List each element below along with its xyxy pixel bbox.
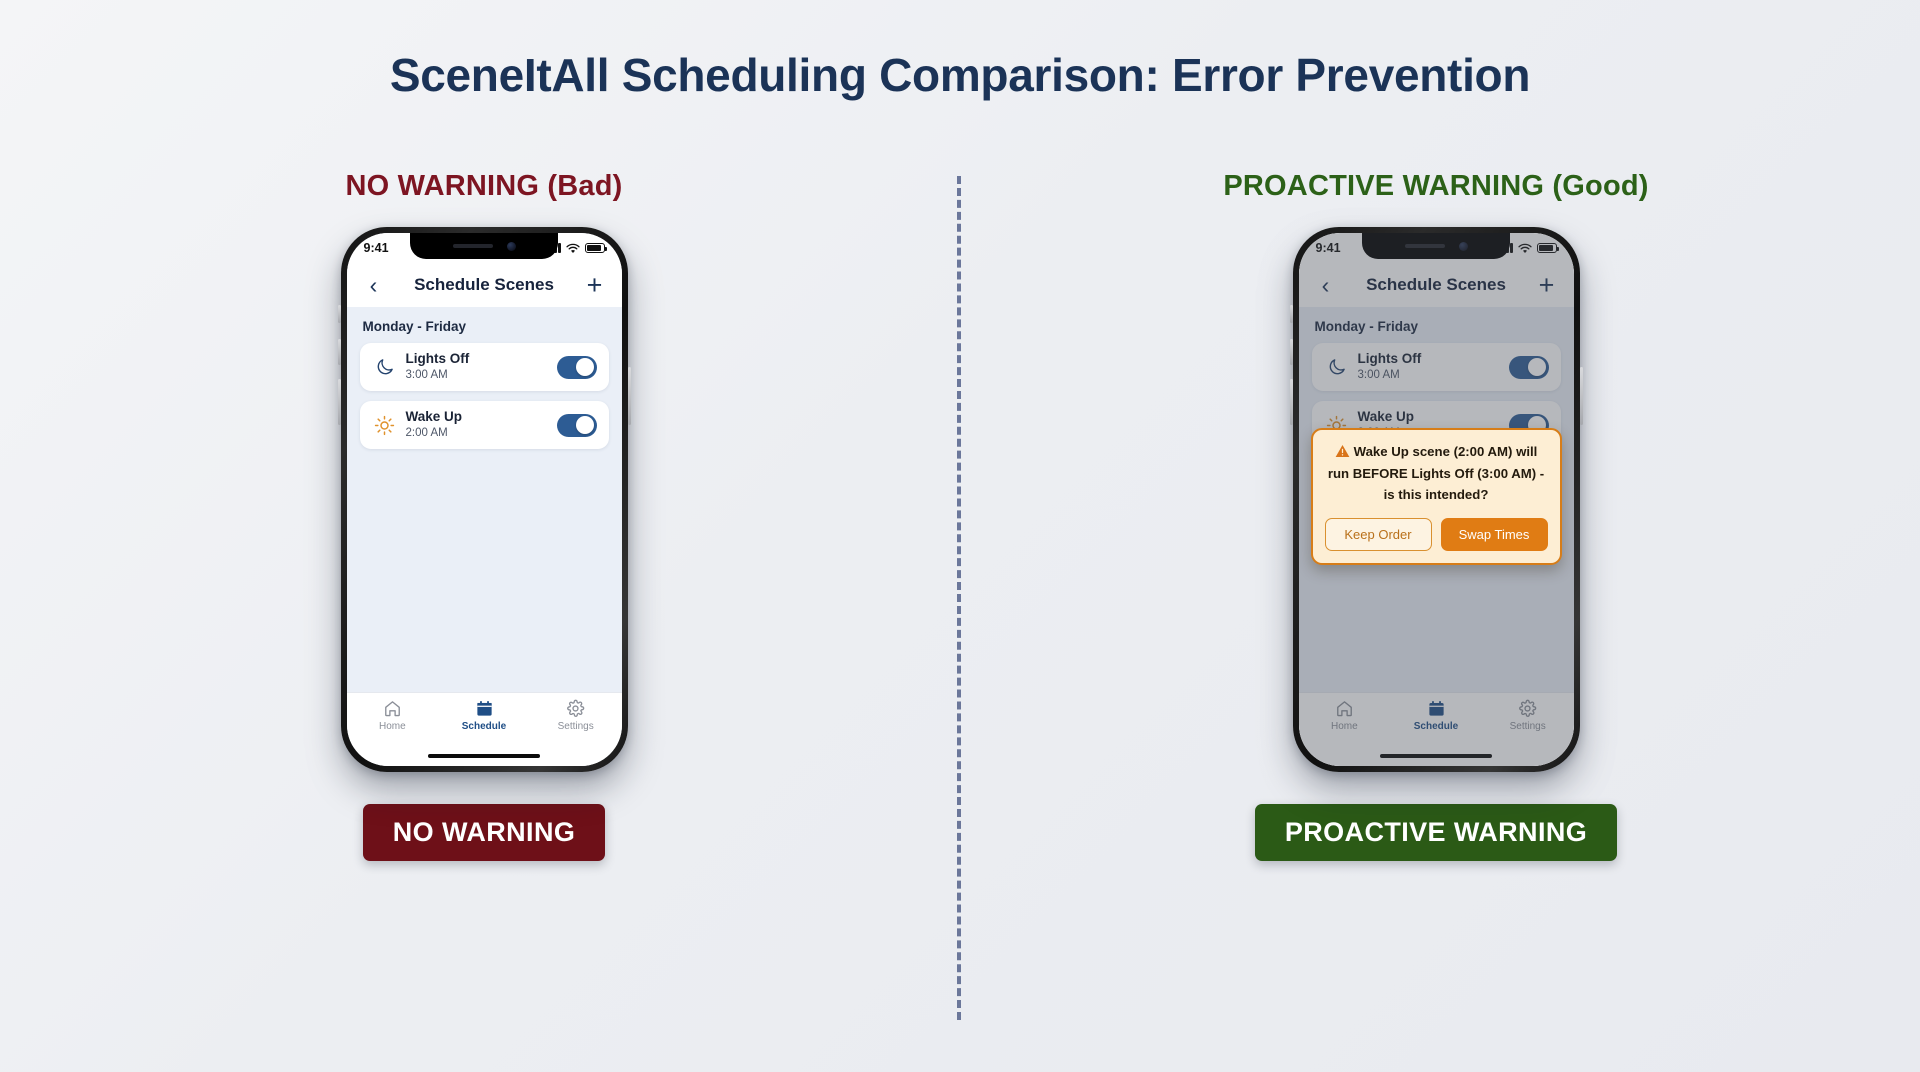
wifi-icon (566, 243, 580, 254)
panel-heading-good: PROACTIVE WARNING (Good) (1223, 170, 1648, 203)
tab-label: Settings (1510, 721, 1546, 732)
home-icon (383, 699, 402, 718)
nav-bar: ‹ Schedule Scenes + (1299, 263, 1574, 307)
home-indicator[interactable] (428, 754, 540, 759)
scene-row-lights-off[interactable]: Lights Off 3:00 AM (360, 343, 609, 391)
panel-heading-bad: NO WARNING (Bad) (345, 170, 622, 203)
gear-icon (1518, 699, 1537, 718)
tab-settings[interactable]: Settings (530, 699, 622, 732)
app-body-left: Monday - Friday Lights Off 3:00 AM (347, 307, 622, 692)
nav-bar: ‹ Schedule Scenes + (347, 263, 622, 307)
section-title: Monday - Friday (1315, 319, 1561, 334)
moon-icon (1322, 357, 1352, 377)
scene-row-lights-off[interactable]: Lights Off 3:00 AM (1312, 343, 1561, 391)
tab-label: Home (379, 721, 406, 732)
chevron-left-icon[interactable]: ‹ (1315, 274, 1337, 297)
tab-label: Settings (558, 721, 594, 732)
wifi-icon (1518, 243, 1532, 254)
battery-icon (585, 243, 605, 253)
gear-icon (566, 699, 585, 718)
tab-label: Schedule (462, 721, 506, 732)
phone-power-button (628, 367, 631, 425)
scene-toggle[interactable] (557, 356, 597, 379)
keep-order-button[interactable]: Keep Order (1325, 518, 1432, 551)
section-title: Monday - Friday (363, 319, 609, 334)
home-indicator[interactable] (1380, 754, 1492, 759)
tab-label: Schedule (1414, 721, 1458, 732)
phone-notch (1362, 233, 1510, 259)
phone-silent-switch (1290, 305, 1293, 323)
panel-divider (957, 176, 961, 1020)
plus-icon[interactable]: + (1536, 272, 1558, 299)
scene-row-wake-up[interactable]: Wake Up 2:00 AM (360, 401, 609, 449)
scene-name: Wake Up (1358, 409, 1509, 426)
calendar-icon (1427, 699, 1446, 718)
comparison-panel-proactive-warning: PROACTIVE WARNING (Good) 9:41 (1086, 170, 1786, 861)
status-badge-proactive-warning: PROACTIVE WARNING (1255, 804, 1617, 861)
phone-screen-right: 9:41 ‹ Schedule Scenes + Monday - Fri (1299, 233, 1574, 766)
tab-home[interactable]: Home (1299, 699, 1391, 732)
phone-notch (410, 233, 558, 259)
tab-bar: Home Schedule Settings (1299, 692, 1574, 746)
warning-message: Wake Up scene (2:00 AM) will run BEFORE … (1328, 444, 1544, 502)
chevron-left-icon[interactable]: ‹ (363, 274, 385, 297)
phone-screen-left: 9:41 ‹ Schedule Scenes + Monday - Fri (347, 233, 622, 766)
warning-message-row: Wake Up scene (2:00 AM) will run BEFORE … (1325, 442, 1548, 505)
comparison-panel-no-warning: NO WARNING (Bad) 9:41 (134, 170, 834, 861)
front-camera-icon (507, 242, 516, 251)
phone-mockup-right: 9:41 ‹ Schedule Scenes + Monday - Fri (1293, 227, 1580, 772)
status-badge-no-warning: NO WARNING (363, 804, 606, 861)
moon-icon (370, 357, 400, 377)
tab-schedule[interactable]: Schedule (438, 699, 530, 732)
scene-text: Wake Up 2:00 AM (400, 409, 557, 441)
nav-title: Schedule Scenes (1366, 275, 1506, 295)
status-bar-time: 9:41 (364, 241, 389, 255)
phone-mockup-left: 9:41 ‹ Schedule Scenes + Monday - Fri (341, 227, 628, 772)
sun-icon (370, 415, 400, 436)
warning-triangle-icon (1335, 444, 1350, 464)
home-indicator-area (1299, 746, 1574, 766)
tab-home[interactable]: Home (347, 699, 439, 732)
plus-icon[interactable]: + (584, 272, 606, 299)
scene-name: Wake Up (406, 409, 557, 426)
nav-title: Schedule Scenes (414, 275, 554, 295)
scene-toggle[interactable] (557, 414, 597, 437)
swap-times-button[interactable]: Swap Times (1441, 518, 1548, 551)
phone-silent-switch (338, 305, 341, 323)
page-title: SceneItAll Scheduling Comparison: Error … (0, 48, 1920, 102)
battery-icon (1537, 243, 1557, 253)
scene-name: Lights Off (1358, 351, 1509, 368)
status-bar-time: 9:41 (1316, 241, 1341, 255)
tab-label: Home (1331, 721, 1358, 732)
scene-name: Lights Off (406, 351, 557, 368)
scene-toggle[interactable] (1509, 356, 1549, 379)
scene-time: 2:00 AM (406, 426, 557, 441)
warning-dialog: Wake Up scene (2:00 AM) will run BEFORE … (1311, 428, 1562, 565)
scene-text: Lights Off 3:00 AM (1352, 351, 1509, 383)
earpiece-speaker-icon (1405, 244, 1445, 248)
home-icon (1335, 699, 1354, 718)
tab-settings[interactable]: Settings (1482, 699, 1574, 732)
scene-text: Lights Off 3:00 AM (400, 351, 557, 383)
tab-schedule[interactable]: Schedule (1390, 699, 1482, 732)
home-indicator-area (347, 746, 622, 766)
phone-power-button (1580, 367, 1583, 425)
front-camera-icon (1459, 242, 1468, 251)
scene-time: 3:00 AM (406, 368, 557, 383)
scene-time: 3:00 AM (1358, 368, 1509, 383)
tab-bar: Home Schedule (347, 692, 622, 746)
calendar-icon (475, 699, 494, 718)
warning-actions: Keep Order Swap Times (1325, 518, 1548, 551)
earpiece-speaker-icon (453, 244, 493, 248)
